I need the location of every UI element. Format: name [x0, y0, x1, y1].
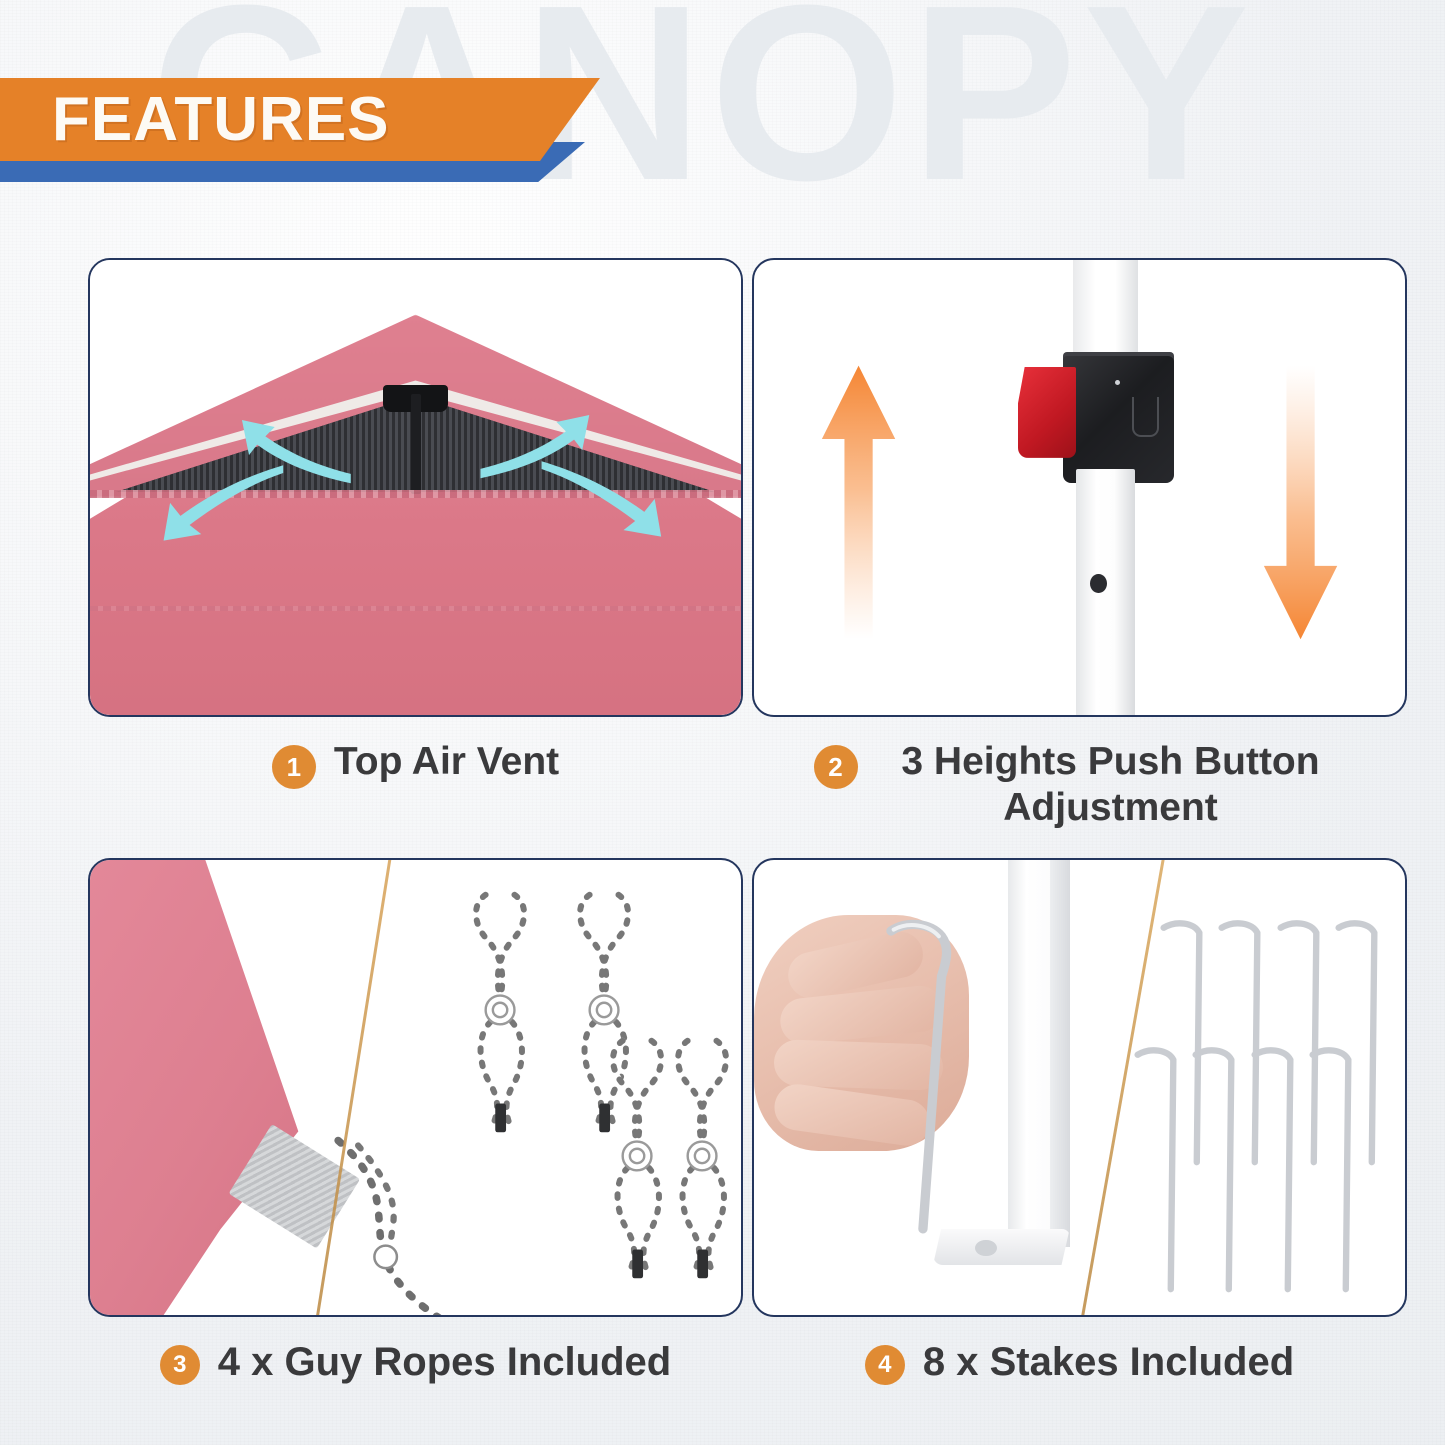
vent-center-pole: [411, 394, 421, 494]
feature-caption-4: 4 8 x Stakes Included: [752, 1339, 1407, 1386]
housing-slot: [1132, 397, 1159, 438]
banner-title: FEATURES: [52, 84, 390, 155]
feature-image-top-air-vent: [88, 258, 743, 717]
stake-icon: [1190, 1042, 1242, 1297]
feature-number-badge: 2: [814, 745, 858, 789]
coiled-rope-icon: [461, 878, 539, 1142]
canopy-leg-shadow: [1050, 858, 1070, 1247]
feature-caption-3: 3 4 x Guy Ropes Included: [88, 1339, 743, 1386]
arrow-down-icon: [1255, 360, 1346, 642]
features-banner: FEATURES: [0, 78, 640, 190]
airflow-arrow-icon: [520, 456, 683, 547]
leg-pole-lower: [1076, 469, 1135, 717]
held-stake-icon: [871, 915, 988, 1261]
feature-caption-text: Top Air Vent: [334, 739, 559, 785]
attached-rope-icon: [285, 1133, 506, 1317]
pole-height-hole: [1090, 574, 1107, 593]
feature-image-push-button: [752, 258, 1407, 717]
stake-icon: [1307, 1042, 1359, 1297]
feature-image-guy-ropes: [88, 858, 743, 1317]
feature-number-badge: 4: [865, 1345, 905, 1385]
banner-orange-strip: FEATURES: [0, 78, 600, 161]
feature-number-badge: 3: [160, 1345, 200, 1385]
feature-caption-text: 4 x Guy Ropes Included: [218, 1339, 671, 1386]
feature-cell-4: 4 8 x Stakes Included: [752, 858, 1407, 1386]
airflow-arrow-icon: [142, 460, 305, 551]
feature-cell-2: 2 3 Heights Push Button Adjustment: [752, 258, 1407, 831]
coiled-rope-icon: [663, 1024, 741, 1288]
stake-icon: [1132, 1042, 1184, 1297]
feature-caption-2: 2 3 Heights Push Button Adjustment: [752, 739, 1407, 831]
arrow-up-icon: [813, 360, 904, 642]
feature-image-stakes: [752, 858, 1407, 1317]
feature-caption-1: 1 Top Air Vent: [88, 739, 743, 789]
feature-caption-text: 8 x Stakes Included: [923, 1339, 1294, 1386]
feature-caption-text: 3 Heights Push Button Adjustment: [876, 739, 1346, 831]
features-grid: 1 Top Air Vent: [0, 258, 1445, 1445]
feature-cell-3: 3 4 x Guy Ropes Included: [88, 858, 743, 1386]
stake-icon: [1249, 1042, 1301, 1297]
red-push-button: [1018, 367, 1077, 458]
housing-dot: [1115, 380, 1120, 385]
canopy-seam-lower: [90, 606, 741, 611]
feature-cell-1: 1 Top Air Vent: [88, 258, 743, 789]
feature-number-badge: 1: [272, 745, 316, 789]
